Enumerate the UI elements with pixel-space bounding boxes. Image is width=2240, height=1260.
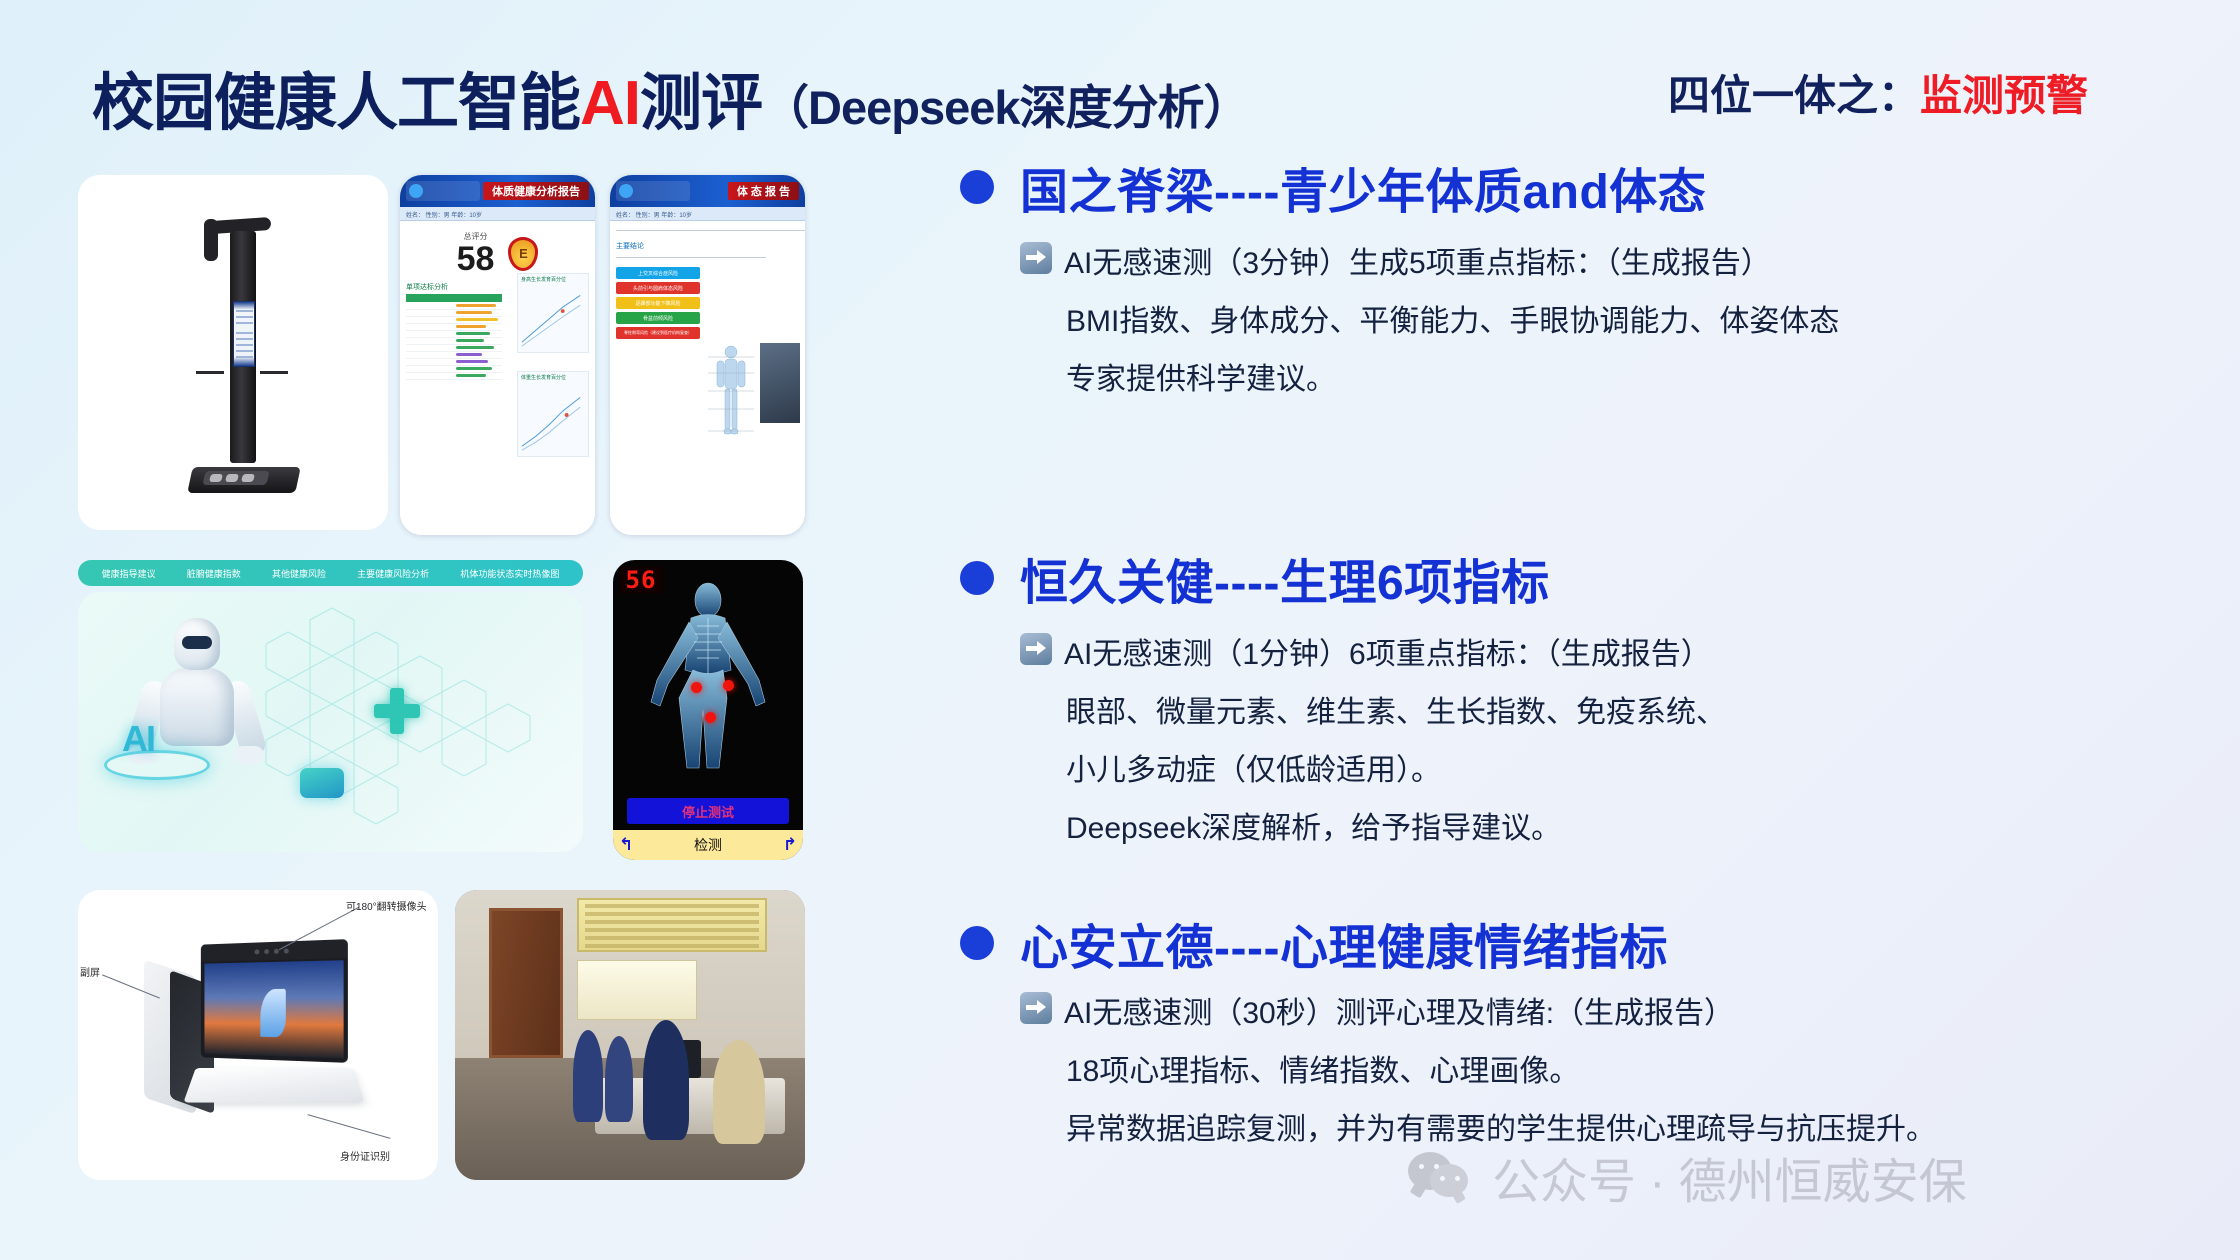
body-line: 专家提供科学建议。 [1020,354,1839,398]
watermark: 公众号 · 德州恒威安保 [1408,1142,1967,1212]
kiosk-handle-right [260,371,288,374]
table-row [406,323,502,330]
table-row [406,358,502,365]
classroom-staff [643,1020,689,1140]
classroom-student [573,1030,603,1122]
body-scanner-screen: 56 停止测试 [613,560,803,860]
report-b-section-label: 主要结论 [616,241,799,251]
terminal-main-screen [201,939,348,1063]
report-a-grade-medal: E [508,237,538,271]
body-line-text: 小儿多动症（仅低龄适用）。 [1066,745,1441,789]
report-a-logo [406,181,480,201]
risk-bar: 脊柱侧弯风险（建议到医疗机构复查） [616,327,700,339]
posture-report-image: 体 态 报 告 姓名： 性别：男 年龄：10岁 ————————————————… [610,175,805,535]
report-b-risk-bars: 上交叉综合症风险 头前引与圆肩体态风险 足踝部功能下降风险 骨盆前倾风险 脊柱侧… [616,267,700,339]
robot-visor [182,636,212,649]
wallpaper-landmark [260,989,285,1037]
table-row [406,302,502,309]
section-3-title: 心安立德----心理健康情绪指标 [1020,908,1668,978]
scanner-footer-label: 检测 [694,835,722,855]
section-1-body: AI无感速测（3分钟）生成5项重点指标：（生成报告） BMI指数、身体成分、平衡… [960,238,1839,398]
body-line: 眼部、微量元素、维生素、生长指数、免疫系统、 [1020,687,1726,731]
chart-a2-svg [518,372,588,456]
section-1-title: 国之脊梁----青少年体质and体态 [1020,152,1706,222]
kiosk-foot-pad [202,471,269,485]
arrow-right-icon [1020,242,1052,274]
body-line: AI无感速测（30秒）测评心理及情绪:（生成报告） [1020,988,1936,1032]
body-line-text: AI无感速测（1分钟）6项重点指标：（生成报告） [1064,629,1711,673]
report-a-body: 总评分 58 E 单项达标分析 身高生长发育百 [400,221,595,535]
posture-photo-thumb [760,343,800,423]
section-physiological: 恒久关健----生理6项指标 AI无感速测（1分钟）6项重点指标：（生成报告） … [960,543,1726,861]
scan-hotspot [723,680,734,691]
robot-hand-right [234,746,264,764]
body-line: BMI指数、身体成分、平衡能力、手眼协调能力、体姿体态 [1020,296,1839,340]
section-psychological: 心安立德----心理健康情绪指标 AI无感速测（30秒）测评心理及情绪:（生成报… [960,908,1936,1162]
kiosk-device-photo [78,175,388,530]
bullet-icon [960,561,994,595]
section-2-title: 恒久关健----生理6项指标 [1020,543,1550,613]
table-row [406,309,502,316]
content-column: 国之脊梁----青少年体质and体态 AI无感速测（3分钟）生成5项重点指标：（… [960,0,2240,1260]
risk-bar: 骨盆前倾风险 [616,312,700,324]
terminal-device [144,936,358,1108]
scanner-footer-bar: ↰ 检测 ↱ [613,830,803,860]
report-a-growth-chart-height: 身高生长发育百分位 [517,273,589,353]
wechat-icon [1408,1152,1470,1202]
tag-item: 主要健康风险分析 [357,567,429,580]
chart-a1-svg [518,274,588,352]
forward-arrow-icon[interactable]: ↱ [783,835,797,855]
table-row [406,365,502,372]
robot-head [174,618,220,670]
ai-robot-illustration: AI [78,592,583,852]
risk-bar: 足踝部功能下降风险 [616,297,700,309]
terminal-wallpaper [204,960,343,1058]
body-line: 18项心理指标、情绪指数、心理画像。 [1020,1046,1936,1090]
section-2-heading: 恒久关健----生理6项指标 [960,543,1726,613]
classroom-poster [577,960,697,1020]
table-row [406,351,502,358]
terminal-base [183,1068,364,1103]
stop-test-button[interactable]: 停止测试 [627,798,789,824]
arrow-right-icon [1020,992,1052,1024]
table-row [406,372,502,379]
media-column: 体质健康分析报告 姓名： 性别：男 年龄：10岁 总评分 58 E 单项达标分析 [0,0,960,1260]
table-row [406,330,502,337]
body-line-text: AI无感速测（3分钟）生成5项重点指标：（生成报告） [1064,238,1771,282]
body-line: AI无感速测（1分钟）6项重点指标：（生成报告） [1020,629,1726,673]
report-b-body: ————————————————————————————————————————… [610,221,805,535]
classroom-door [489,908,563,1058]
section-2-body: AI无感速测（1分钟）6项重点指标：（生成报告） 眼部、微量元素、维生素、生长指… [960,629,1726,847]
kiosk-screen [233,301,255,367]
report-a-score-block: 总评分 58 E [406,227,589,276]
bullet-icon [960,926,994,960]
callout-label-camera: 可180°翻转摄像头 [346,898,427,913]
report-b-desc: —————————————————————————————— [616,254,799,263]
report-a-growth-chart-weight: 体重生长发育百分位 [517,371,589,457]
report-b-meta: 姓名： 性别：男 年龄：10岁 [610,207,805,221]
scanner-body-figure [643,582,773,778]
report-a-header: 体质健康分析报告 [400,175,595,207]
callout-line-idreader [308,1114,391,1139]
body-line-text: Deepseek深度解析，给予指导建议。 [1066,803,1561,847]
body-line-text: 18项心理指标、情绪指数、心理画像。 [1066,1046,1579,1090]
body-line: Deepseek深度解析，给予指导建议。 [1020,803,1726,847]
report-b-logo [616,181,690,201]
medical-cross-icon [374,688,420,734]
section-physical: 国之脊梁----青少年体质and体态 AI无感速测（3分钟）生成5项重点指标：（… [960,152,1839,412]
section-3-body: AI无感速测（30秒）测评心理及情绪:（生成报告） 18项心理指标、情绪指数、心… [960,988,1936,1148]
report-b-title: 体 态 报 告 [728,182,799,200]
physical-health-report-image: 体质健康分析报告 姓名： 性别：男 年龄：10岁 总评分 58 E 单项达标分析 [400,175,595,535]
callout-label-idreader: 身份证识别 [340,1148,390,1163]
tag-item: 其他健康风险 [272,567,326,580]
section-3-heading: 心安立德----心理健康情绪指标 [960,908,1936,978]
table-row [406,344,502,351]
arrow-right-icon [1020,633,1052,665]
section-1-heading: 国之脊梁----青少年体质and体态 [960,152,1839,222]
report-b-header: 体 态 报 告 [610,175,805,207]
classroom-notice-board [577,898,767,952]
posture-body-figure [708,343,754,451]
scan-hotspot [705,712,716,723]
tag-item: 机体功能状态实时热像图 [460,567,559,580]
tech-chip-icon [300,768,344,798]
table-row [406,337,502,344]
report-a-score-value: 58 [457,242,495,276]
report-a-title: 体质健康分析报告 [483,182,589,200]
callout-label-subscreen: 副屏 [80,964,100,979]
body-line-text: AI无感速测（30秒）测评心理及情绪:（生成报告） [1064,988,1734,1032]
ai-hologram-text: AI [122,718,184,764]
health-tag-bar: 健康指导建议 脏腑健康指数 其他健康风险 主要健康风险分析 机体功能状态实时热像… [78,560,583,586]
scan-hotspot [691,682,702,693]
classroom-session-photo [455,890,805,1180]
terminal-camera-bar [201,939,348,962]
risk-bar: 上交叉综合症风险 [616,267,700,279]
watermark-text: 公众号 · 德州恒威安保 [1492,1142,1967,1212]
table-header-row [406,294,502,302]
tag-item: 健康指导建议 [102,567,156,580]
bullet-icon [960,170,994,204]
body-line: AI无感速测（3分钟）生成5项重点指标：（生成报告） [1020,238,1839,282]
body-line: 小儿多动症（仅低龄适用）。 [1020,745,1726,789]
body-line-text: 专家提供科学建议。 [1066,354,1336,398]
desktop-terminal-photo: 可180°翻转摄像头 副屏 身份证识别 [78,890,438,1180]
report-b-intro: ————————————————————————————————————————… [616,227,799,236]
report-a-table [406,294,502,380]
classroom-student [605,1036,633,1122]
risk-bar: 头前引与圆肩体态风险 [616,282,700,294]
body-line-text: BMI指数、身体成分、平衡能力、手眼协调能力、体姿体态 [1066,296,1839,340]
classroom-student-seated [713,1040,765,1144]
report-a-meta: 姓名： 性别：男 年龄：10岁 [400,207,595,221]
tag-item: 脏腑健康指数 [187,567,241,580]
body-line-text: 眼部、微量元素、维生素、生长指数、免疫系统、 [1066,687,1726,731]
table-row [406,316,502,323]
back-arrow-icon[interactable]: ↰ [619,835,633,855]
kiosk-handle-left [196,371,224,374]
